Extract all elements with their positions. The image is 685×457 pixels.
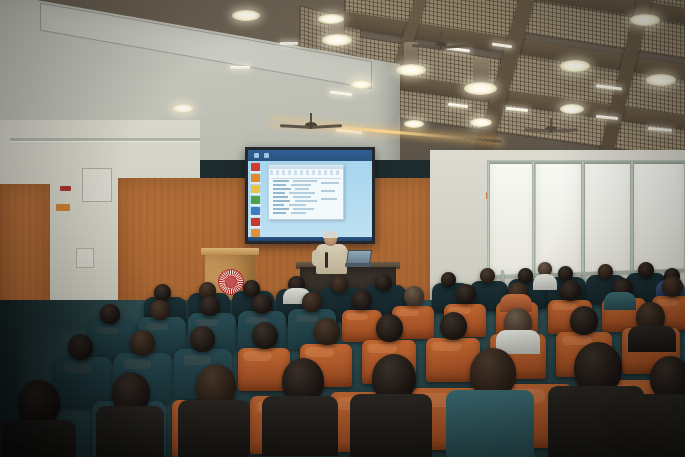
audience-head [440, 312, 467, 340]
audience-shoulders [604, 292, 636, 310]
downlight-icon [560, 104, 584, 114]
downlight-icon [646, 74, 676, 86]
audience-head [404, 286, 424, 306]
lectern-top [201, 248, 259, 255]
roller-blind[interactable] [489, 164, 535, 280]
downlight-icon [232, 10, 260, 21]
audience-shoulders [2, 420, 76, 457]
audience-shoulders [96, 406, 164, 457]
wall-conduit [10, 138, 200, 141]
audience-head [352, 290, 372, 310]
audience-shoulders [548, 386, 644, 457]
window-mullion [487, 162, 490, 278]
audience-head [252, 294, 272, 314]
lecture-hall-photo: Photograph taken from the back of a tier… [0, 0, 685, 457]
desktop-icon-blue[interactable] [251, 207, 260, 215]
auditorium-seat [58, 360, 108, 402]
window-mullion [581, 162, 585, 288]
audience-shoulders [634, 394, 685, 457]
audience-head [68, 334, 93, 360]
window-mullion [532, 162, 535, 282]
audience-head [456, 284, 476, 304]
downlight-icon [322, 34, 352, 46]
audience-head [518, 268, 533, 283]
audience-head [662, 276, 683, 297]
strip-light [230, 66, 250, 69]
titlebar-icon [264, 153, 269, 158]
audience-shoulders [533, 274, 557, 290]
presenter-arm [312, 250, 320, 266]
audience-head [480, 268, 495, 283]
fan-blade [442, 44, 470, 49]
audience-head [331, 276, 348, 293]
strip-light [280, 42, 298, 45]
auditorium-seat [92, 324, 132, 356]
ceiling-fan-icon [524, 126, 578, 137]
fan-blade [412, 44, 440, 49]
audience-head [150, 300, 170, 320]
audience-head [190, 326, 215, 352]
audience-shoulders [446, 390, 534, 457]
audience-head [252, 322, 278, 349]
ceiling-fan-icon [412, 42, 470, 54]
presenter [315, 232, 349, 272]
desktop-icon-orange-2[interactable] [251, 229, 260, 237]
orange-wall-sign [56, 204, 70, 211]
presenter-hair [323, 231, 338, 238]
desktop-icon-orange[interactable] [251, 174, 260, 182]
audience-head [560, 280, 581, 301]
windows-desktop [248, 161, 372, 241]
window-titlebar[interactable] [269, 165, 343, 169]
audience-head [314, 318, 340, 345]
audience-shoulders [350, 394, 432, 457]
downlight-icon [172, 104, 194, 113]
red-wall-sign [60, 186, 71, 191]
desktop-icon-green[interactable] [251, 196, 260, 204]
downlight-icon [396, 64, 426, 76]
fan-blade [524, 128, 550, 132]
fan-blade [280, 124, 310, 129]
downlight-icon [404, 120, 424, 128]
downlight-icon [630, 14, 660, 26]
microphone-icon [325, 252, 328, 268]
window-toolbar[interactable] [270, 170, 342, 175]
audience-shoulders [262, 396, 338, 456]
audience-shoulders [178, 400, 250, 457]
taskbar[interactable] [248, 237, 372, 241]
audience-head [638, 262, 654, 278]
ceiling-fan-icon [280, 122, 342, 134]
downlight-icon [350, 80, 372, 89]
spreadsheet-window[interactable] [268, 164, 344, 220]
audience-head [302, 292, 322, 312]
audience-shoulders [628, 326, 676, 352]
laptop-keyboard [345, 263, 371, 267]
projection-screen [245, 147, 375, 244]
audience-head [130, 330, 155, 356]
wall-access-panel [76, 248, 94, 268]
desktop-icon-red-2[interactable] [251, 218, 260, 226]
audience-head [375, 274, 392, 291]
audience-head [376, 314, 403, 342]
audience-head [200, 296, 220, 316]
titlebar-icon [254, 153, 259, 158]
image-caption: Photograph taken from the back of a tier… [0, 0, 222, 1]
downlight-can [473, 58, 489, 84]
fan-blade [312, 124, 342, 129]
downlight-icon [464, 82, 497, 95]
wall-access-panel [82, 168, 112, 202]
image-title: University lecture hall during a present… [0, 0, 19, 1]
audience-head [441, 272, 456, 287]
audience-head [558, 266, 573, 281]
fan-blade [552, 128, 578, 132]
audience-head [598, 264, 613, 279]
desktop-icon-red[interactable] [251, 163, 260, 171]
downlight-icon [560, 60, 590, 72]
audience-head [100, 304, 120, 324]
audience-head [570, 306, 598, 335]
downlight-icon [318, 14, 344, 24]
desktop-icon-yellow[interactable] [251, 185, 260, 193]
audience-head [154, 284, 171, 301]
downlight-icon [470, 118, 492, 127]
screen-titlebar [248, 150, 372, 161]
laptop [345, 250, 371, 268]
